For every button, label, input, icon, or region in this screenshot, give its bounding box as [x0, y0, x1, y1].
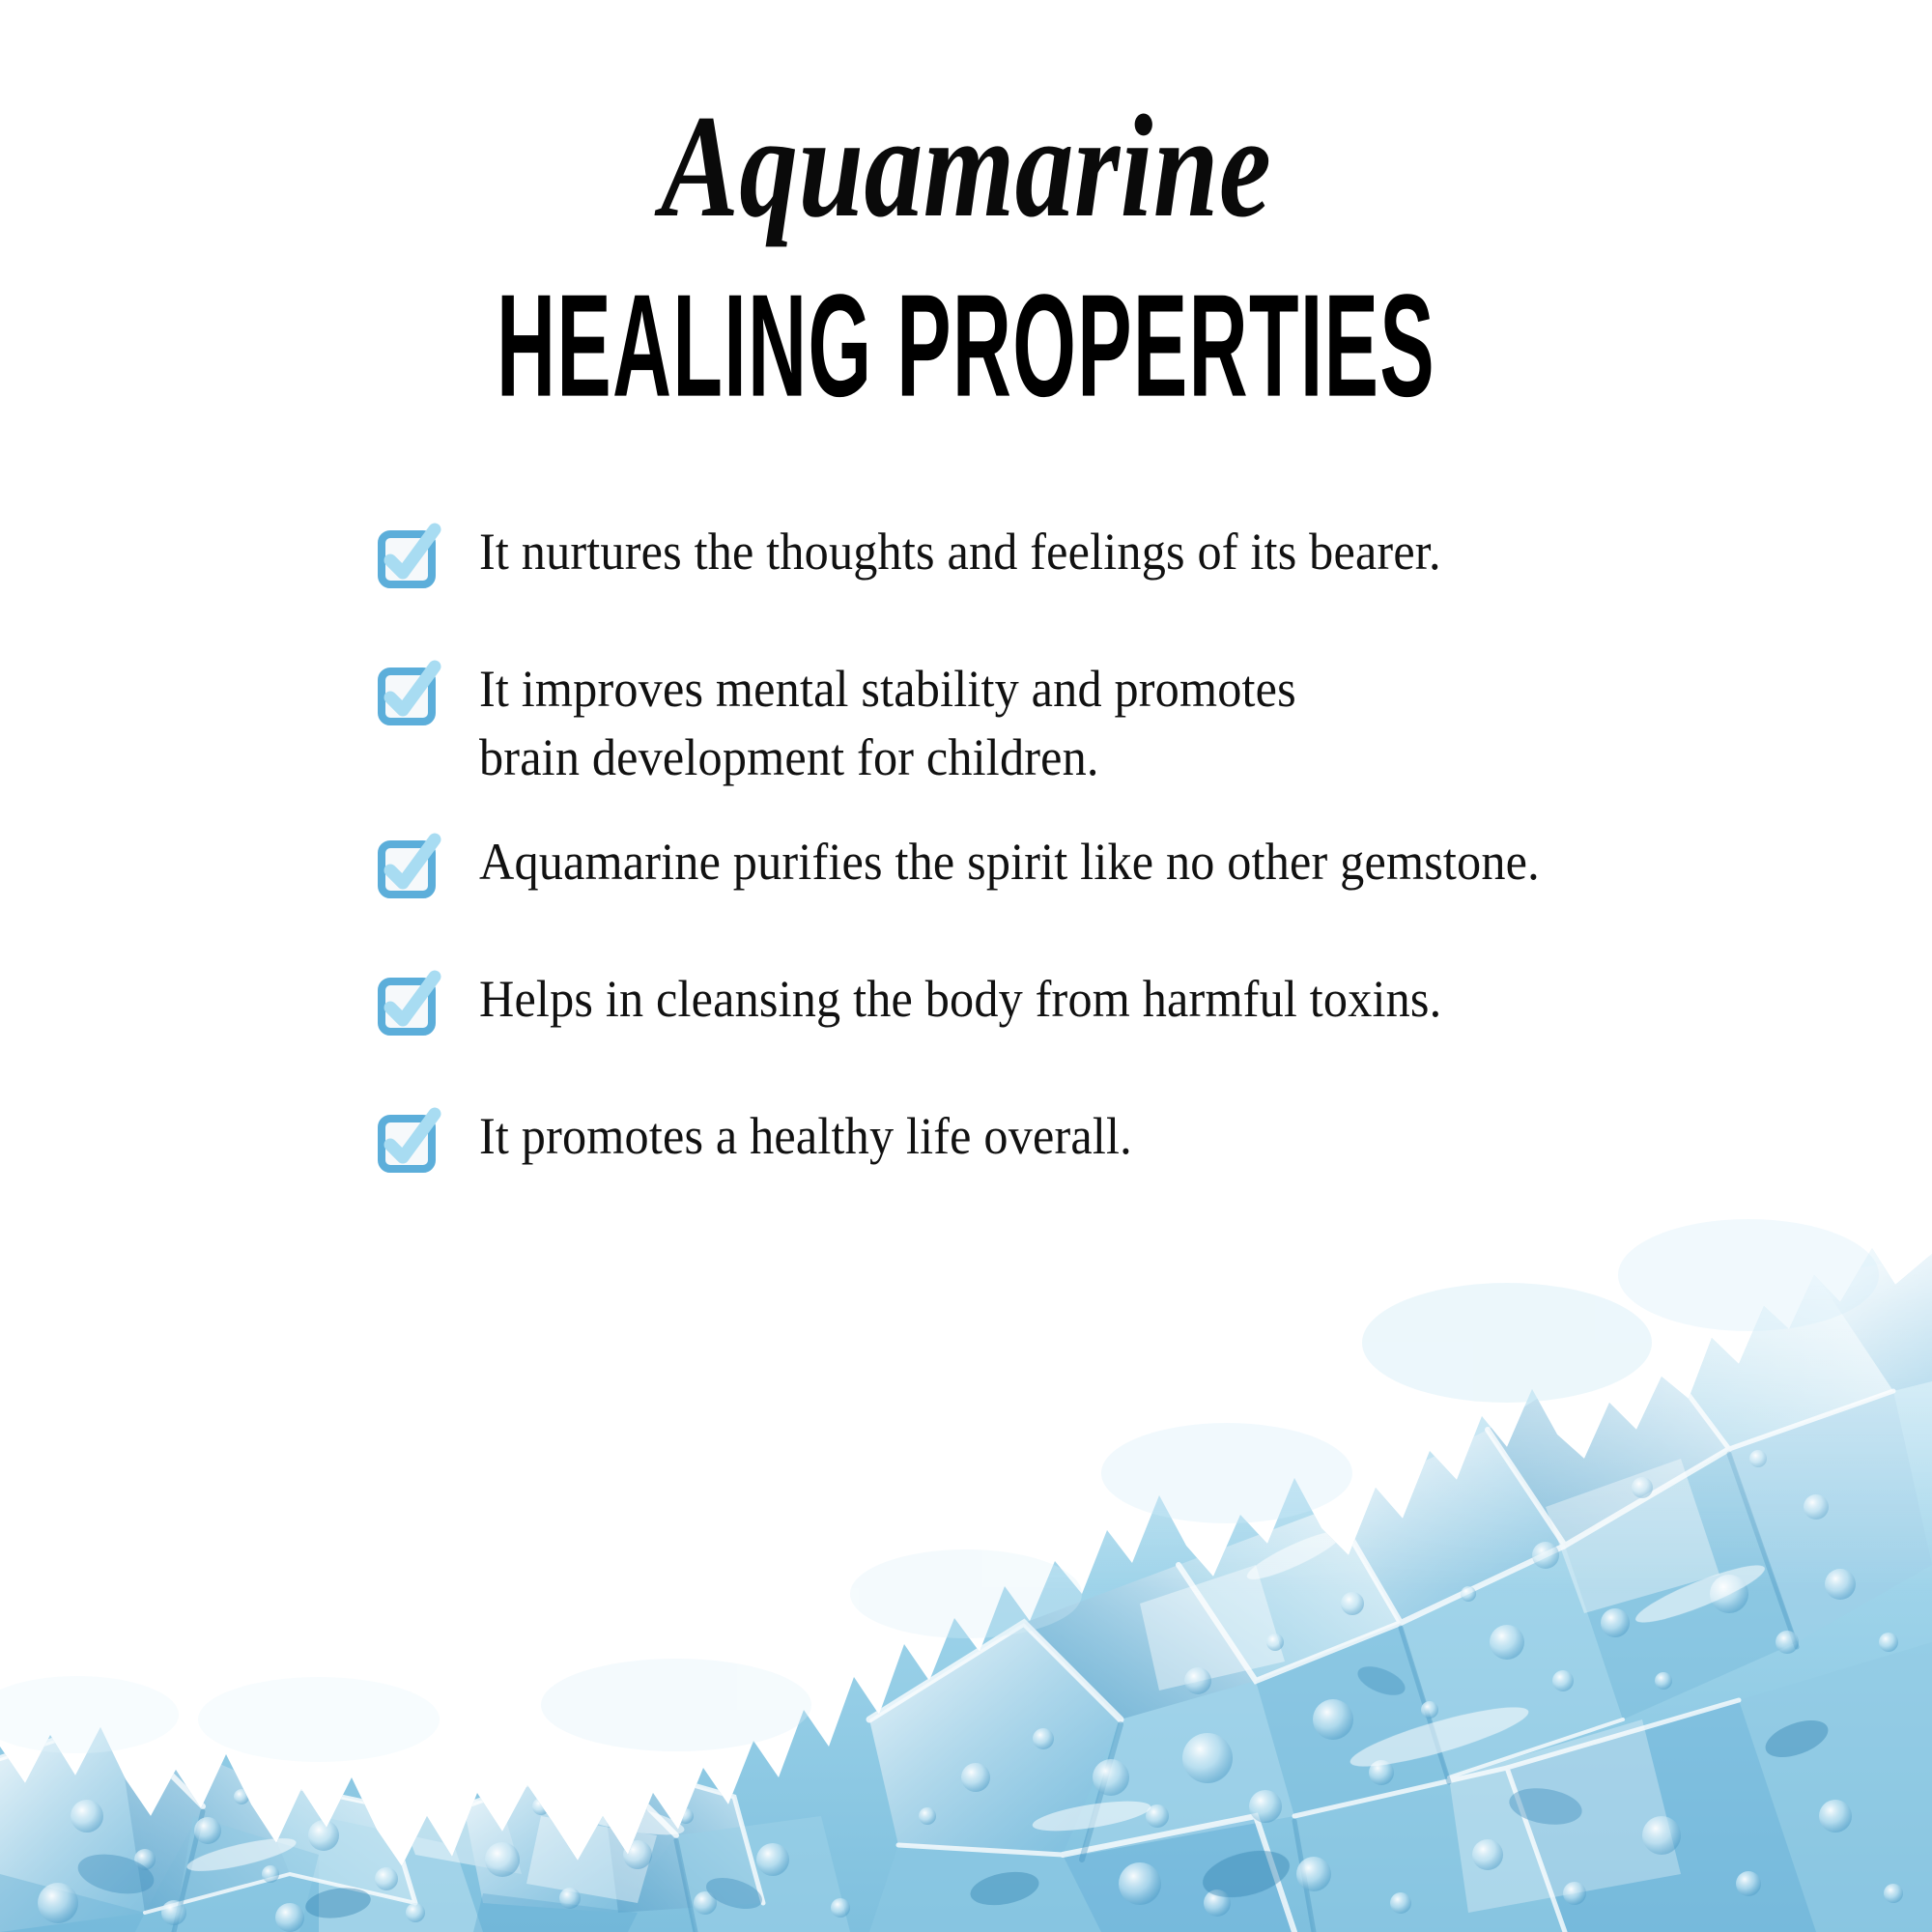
healing-properties-list: It nurtures the thoughts and feelings of…: [379, 518, 1808, 1239]
list-item-label: It nurtures the thoughts and feelings of…: [479, 518, 1441, 586]
poster-canvas: Aquamarine HEALING PROPERTIES It nurture…: [0, 0, 1932, 1932]
list-item-label: It improves mental stability and promote…: [479, 655, 1296, 793]
checked-checkbox-icon: [379, 663, 440, 724]
list-item-label: Aquamarine purifies the spirit like no o…: [479, 828, 1540, 896]
list-item-label: It promotes a healthy life overall.: [479, 1102, 1132, 1171]
list-item: It improves mental stability and promote…: [379, 655, 1808, 793]
list-item: Helps in cleansing the body from harmful…: [379, 965, 1808, 1035]
list-item: Aquamarine purifies the spirit like no o…: [379, 828, 1808, 897]
checked-checkbox-icon: [379, 973, 440, 1035]
list-item: It promotes a healthy life overall.: [379, 1102, 1808, 1172]
checked-checkbox-icon: [379, 836, 440, 897]
ice-cubes-photo: [0, 1140, 1932, 1932]
checked-checkbox-icon: [379, 526, 440, 587]
page-title-main: HEALING PROPERTIES: [328, 240, 1604, 419]
poster-header: Aquamarine HEALING PROPERTIES: [0, 0, 1932, 392]
page-title-script: Aquamarine: [193, 93, 1739, 240]
list-item-label: Helps in cleansing the body from harmful…: [479, 965, 1441, 1034]
list-item: It nurtures the thoughts and feelings of…: [379, 518, 1808, 587]
checked-checkbox-icon: [379, 1110, 440, 1172]
